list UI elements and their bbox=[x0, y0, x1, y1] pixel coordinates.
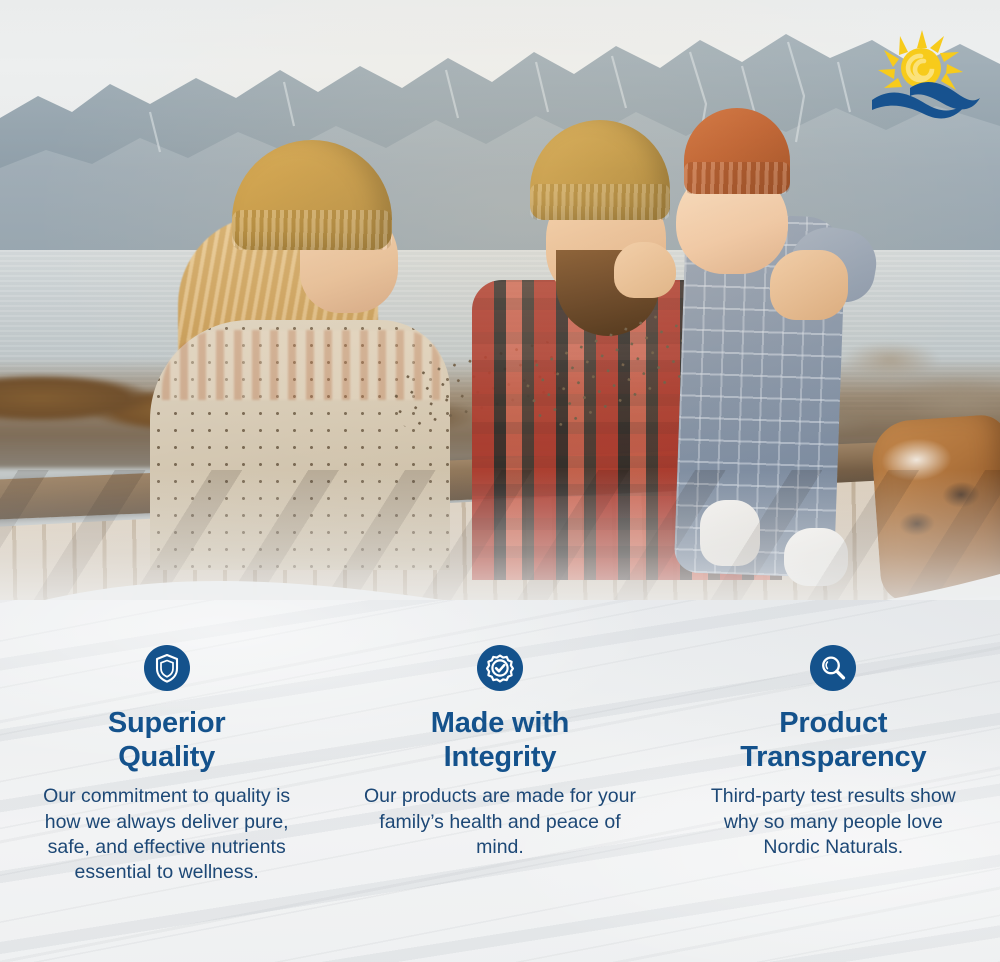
feature-column-product-transparency: ProductTransparency Third-party test res… bbox=[667, 645, 1000, 860]
feature-columns: SuperiorQuality Our commitment to qualit… bbox=[0, 645, 1000, 945]
man-hand bbox=[614, 242, 676, 298]
feature-column-superior-quality: SuperiorQuality Our commitment to qualit… bbox=[0, 645, 333, 886]
feature-column-made-with-integrity: Made withIntegrity Our products are made… bbox=[333, 645, 666, 860]
feature-title: Made withIntegrity bbox=[431, 707, 569, 774]
feature-title: ProductTransparency bbox=[740, 707, 926, 774]
sun-swirl-icon bbox=[878, 30, 963, 90]
shield-icon bbox=[144, 645, 190, 691]
feature-title-line2: Integrity bbox=[444, 741, 557, 773]
feature-title-line2: Transparency bbox=[740, 741, 926, 773]
feature-title-line1: Made with bbox=[431, 707, 569, 739]
feature-body: Our commitment to quality is how we alwa… bbox=[27, 784, 307, 885]
verified-badge-icon bbox=[477, 645, 523, 691]
marketing-infographic: SuperiorQuality Our commitment to qualit… bbox=[0, 0, 1000, 962]
feature-title-line1: Product bbox=[779, 707, 887, 739]
feature-body: Our products are made for your family’s … bbox=[360, 784, 640, 860]
nordic-naturals-logo[interactable] bbox=[864, 22, 984, 122]
feature-body: Third-party test results show why so man… bbox=[693, 784, 973, 860]
magnifying-glass-icon bbox=[810, 645, 856, 691]
hero-photo bbox=[0, 0, 1000, 625]
feature-title-line1: Superior bbox=[108, 707, 226, 739]
feature-title-line2: Quality bbox=[118, 741, 215, 773]
feature-title: SuperiorQuality bbox=[108, 707, 226, 774]
man-hand bbox=[770, 250, 848, 320]
